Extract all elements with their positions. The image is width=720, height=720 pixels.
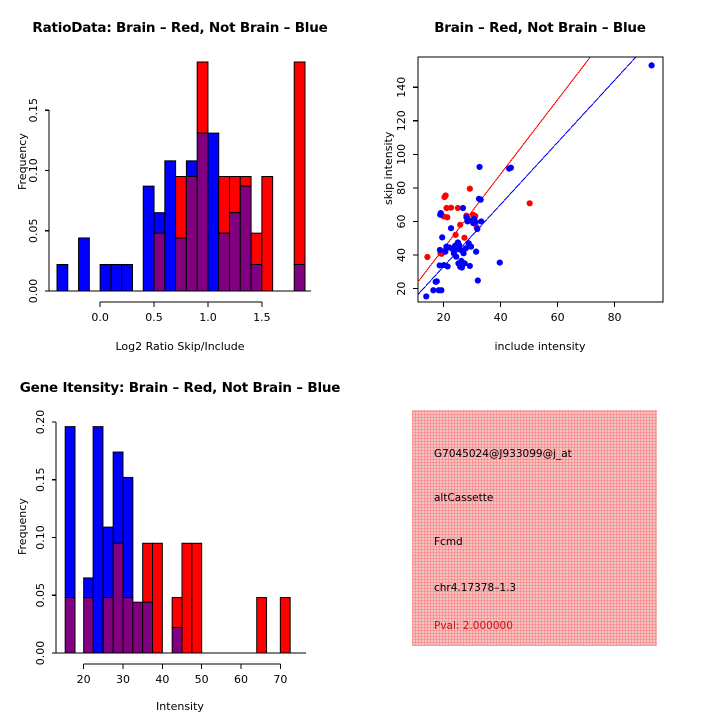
y-tick-label: 0.00 [34,641,47,666]
gene-intensity-plot-area: 0.000.050.100.150.20203040506070 [0,360,360,720]
histogram-bar-overlap [251,264,262,291]
histogram-bar [240,177,251,187]
x-tick-label: 40 [155,673,169,686]
histogram-bar [262,177,273,292]
plot-frame [418,57,663,302]
histogram-bar [208,133,219,291]
y-tick-label: 20 [395,282,408,296]
intensity-scatter-tick-labels: 2040608010012014020406080 [395,77,622,324]
gene-intensity-panel: Gene Itensity: Brain – Red, Not Brain – … [0,360,360,720]
histogram-bar [219,177,230,234]
scatter-point [457,222,463,228]
pval-text: Pval: 2.000000 [434,620,513,632]
histogram-bar [172,598,182,628]
histogram-bar-overlap [65,598,75,653]
histogram-bar [143,186,154,291]
scatter-point [443,192,449,198]
intensity-scatter-panel: Brain – Red, Not Brain – Blue include in… [360,0,720,360]
histogram-bar-overlap [84,598,94,653]
histogram-bar [153,543,163,653]
event-type-text: altCassette [434,492,493,504]
scatter-point [439,234,445,240]
scatter-point [423,293,429,299]
x-tick-label: 60 [234,673,248,686]
scatter-point [475,277,481,283]
histogram-bar-overlap [176,238,187,291]
histogram-bar [154,213,165,233]
intensity-scatter-fit-lines [418,57,636,294]
histogram-bar [197,62,208,133]
locus-text: chr4.17378–1.3 [434,582,516,594]
x-tick-label: 0.0 [91,311,109,324]
histogram-bar [257,598,267,653]
y-tick-label: 0.05 [34,583,47,608]
x-tick-label: 80 [608,311,622,324]
scatter-point [448,205,454,211]
scatter-point [467,263,473,269]
scatter-point [453,254,459,260]
histogram-bar [182,543,192,653]
histogram-bar [251,233,262,264]
histogram-bar [176,177,187,238]
ratio-histogram-panel: RatioData: Brain – Red, Not Brain – Blue… [0,0,360,360]
scatter-point [527,200,533,206]
histogram-bar [280,598,290,653]
histogram-bar-overlap [186,177,197,292]
histogram-bar-overlap [123,598,133,653]
histogram-bar-overlap [133,602,143,653]
histogram-bar-overlap [197,133,208,291]
scatter-point [649,62,655,68]
x-tick-label: 60 [551,311,565,324]
scatter-point [444,214,450,220]
histogram-bar-overlap [143,602,153,653]
scatter-point [445,263,451,269]
x-tick-label: 50 [195,673,209,686]
scatter-point [460,205,466,211]
histogram-bar [84,578,94,598]
scatter-point [437,247,443,253]
histogram-bar-overlap [219,233,230,291]
y-tick-label: 100 [395,144,408,165]
histogram-bar [294,62,305,264]
figure-canvas: RatioData: Brain – Red, Not Brain – Blue… [0,0,720,720]
x-tick-label: 40 [494,311,508,324]
scatter-point [474,226,480,232]
y-tick-label: 60 [395,214,408,228]
histogram-bar [65,427,75,598]
histogram-bar [186,161,197,177]
gene-symbol-text: Fcmd [434,536,463,548]
histogram-bar-overlap [294,264,305,291]
scatter-point [424,254,430,260]
x-tick-label: 1.5 [253,311,271,324]
y-tick-label: 0.10 [27,158,40,183]
y-tick-label: 120 [395,110,408,131]
intensity-scatter-axes [413,57,663,307]
y-tick-label: 0.10 [34,525,47,550]
histogram-bar [123,477,133,597]
probe-id-text: G7045024@J933099@j_at [434,448,572,460]
histogram-bar [113,452,123,543]
histogram-bar [93,427,103,653]
gene-intensity-bars [65,427,290,653]
scatter-point [468,244,474,250]
x-tick-label: 20 [77,673,91,686]
annotation-panel: G7045024@J933099@j_at altCassette Fcmd c… [360,360,720,720]
histogram-bar-overlap [230,213,241,291]
scatter-point [478,197,484,203]
scatter-point [478,218,484,224]
histogram-bar [57,264,68,291]
scatter-point [438,287,444,293]
histogram-bar-overlap [154,233,165,291]
ratio-histogram-bars [57,62,305,291]
x-tick-label: 1.0 [199,311,217,324]
y-tick-label: 0.20 [34,410,47,435]
y-tick-label: 0.15 [34,468,47,493]
fit-line [418,57,636,294]
x-tick-label: 20 [437,311,451,324]
x-tick-label: 0.5 [145,311,163,324]
scatter-point [473,249,479,255]
histogram-bar [165,161,176,291]
histogram-bar [143,543,153,602]
intensity-scatter-points [423,62,655,299]
ratio-histogram-plot-area: 0.000.050.100.150.00.51.01.5 [0,0,360,360]
scatter-point [461,235,467,241]
scatter-point [434,278,440,284]
scatter-point [497,259,503,265]
x-tick-label: 30 [116,673,130,686]
x-tick-label: 70 [273,673,287,686]
histogram-bar-overlap [172,628,182,653]
histogram-bar [122,264,133,291]
histogram-bar [103,527,113,597]
annotation-box: G7045024@J933099@j_at altCassette Fcmd c… [412,410,657,646]
intensity-scatter-plot-area: 2040608010012014020406080 [360,0,720,360]
y-tick-label: 0.00 [27,279,40,304]
scatter-point [430,287,436,293]
histogram-bar-overlap [113,543,123,653]
histogram-bar-overlap [240,186,251,291]
scatter-point [438,210,444,216]
histogram-bar-overlap [103,598,113,653]
histogram-bar [100,264,111,291]
y-tick-label: 0.05 [27,218,40,243]
histogram-bar [192,543,202,653]
scatter-point [472,219,478,225]
y-tick-label: 0.15 [27,98,40,123]
histogram-bar [111,264,122,291]
histogram-bar [230,177,241,213]
scatter-point [467,186,473,192]
y-tick-label: 80 [395,181,408,195]
scatter-point [508,165,514,171]
y-tick-label: 40 [395,248,408,262]
scatter-point [476,164,482,170]
scatter-point [453,232,459,238]
histogram-bar [79,238,90,291]
y-tick-label: 140 [395,77,408,98]
scatter-point [448,225,454,231]
